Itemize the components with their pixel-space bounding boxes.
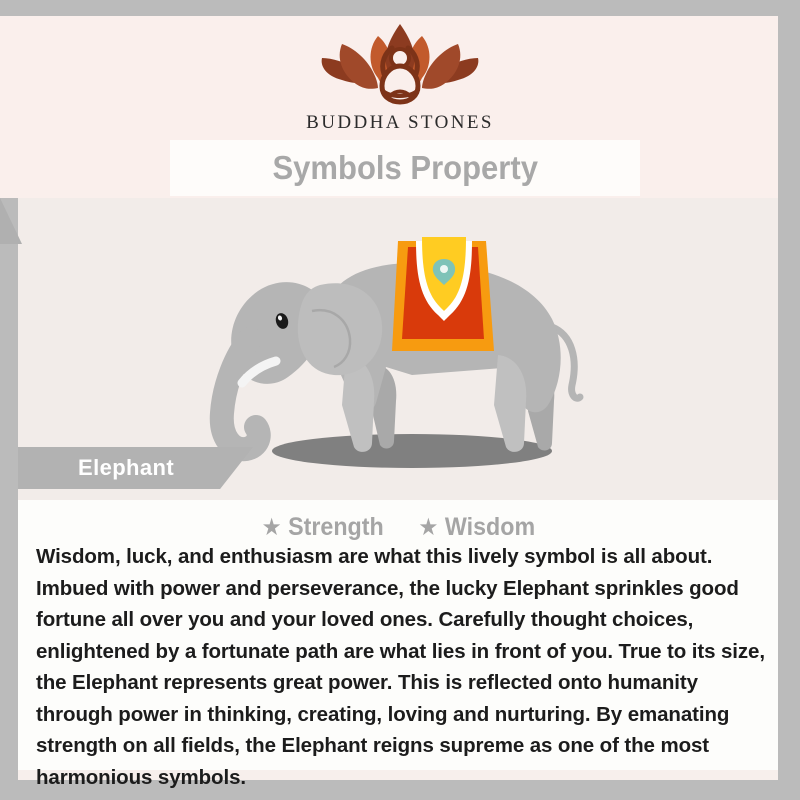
symbol-name-tag: Elephant xyxy=(18,447,253,489)
symbol-name: Elephant xyxy=(78,455,174,481)
lotus-meditation-icon xyxy=(312,18,488,110)
elephant-illustration xyxy=(180,215,620,485)
page-title-banner: Symbols Property xyxy=(170,140,640,196)
attribute-wisdom: ★ Wisdom xyxy=(418,513,535,542)
elephant-illustration-svg xyxy=(180,215,620,485)
symbol-attributes: ★ Strength ★ Wisdom xyxy=(18,513,778,542)
brand-name: BUDDHA STONES xyxy=(306,112,494,134)
elephant-ear xyxy=(298,283,382,375)
brand-logo: BUDDHA STONES xyxy=(0,18,800,138)
star-icon: ★ xyxy=(418,516,438,540)
symbol-property-card: BUDDHA STONES Symbols Property xyxy=(0,0,800,800)
symbol-description: Wisdom, luck, and enthusiasm are what th… xyxy=(36,541,776,793)
page-title: Symbols Property xyxy=(272,149,537,187)
star-icon: ★ xyxy=(261,516,281,540)
attribute-strength: ★ Strength xyxy=(261,513,383,542)
attribute-strength-label: Strength xyxy=(288,513,384,542)
attribute-wisdom-label: Wisdom xyxy=(445,513,535,542)
